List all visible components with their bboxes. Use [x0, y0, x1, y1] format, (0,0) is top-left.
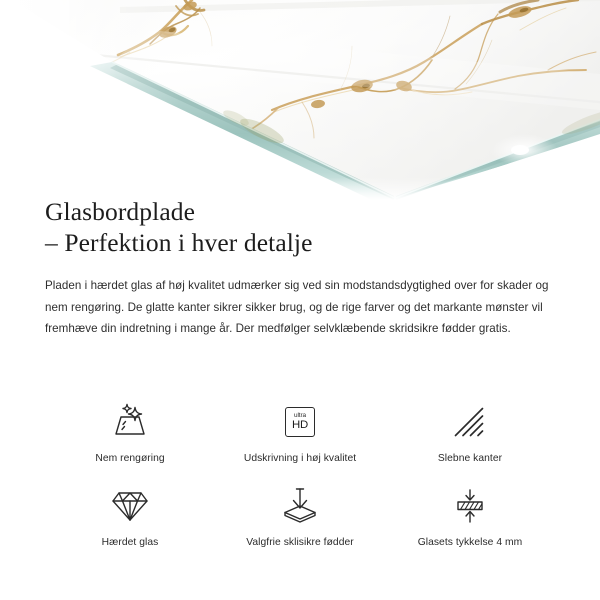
feature-label: Nem rengøring [95, 453, 164, 464]
thickness-icon [451, 484, 489, 528]
product-description-text: Pladen i hærdet glas af høj kvalitet udm… [45, 275, 555, 340]
feature-item-polished-edges: Slebne kanter [385, 400, 555, 484]
ultra-hd-icon: ultra HD [285, 400, 315, 444]
feature-label: Glasets tykkelse 4 mm [418, 537, 523, 548]
glass-tabletop-photo [0, 0, 600, 200]
ultra-hd-badge: ultra HD [285, 407, 315, 437]
feature-label: Udskrivning i høj kvalitet [244, 453, 356, 464]
polished-edge-icon [453, 400, 487, 444]
feature-item-nonslip-feet: Valgfrie sklisikre fødder [215, 484, 385, 568]
feature-label: Slebne kanter [438, 453, 502, 464]
description-block: Glasbordplade – Perfektion i hver detalj… [0, 196, 600, 340]
nonslip-feet-icon [280, 484, 320, 528]
diamond-icon [111, 484, 149, 528]
feature-label: Hærdet glas [102, 537, 159, 548]
feature-item-easy-cleaning: Nem rengøring [45, 400, 215, 484]
sparkle-plate-icon [110, 400, 150, 444]
feature-item-tempered-glass: Hærdet glas [45, 484, 215, 568]
ultra-hd-badge-bottom: HD [292, 420, 308, 431]
page-title: Glasbordplade – Perfektion i hver detalj… [45, 196, 555, 258]
feature-label: Valgfrie sklisikre fødder [246, 537, 354, 548]
feature-item-thickness: Glasets tykkelse 4 mm [385, 484, 555, 568]
feature-item-print-quality: ultra HD Udskrivning i høj kvalitet [215, 400, 385, 484]
feature-grid: Nem rengøring ultra HD Udskrivning i høj… [45, 400, 555, 568]
product-description-page: Glasbordplade – Perfektion i hver detalj… [0, 0, 600, 600]
